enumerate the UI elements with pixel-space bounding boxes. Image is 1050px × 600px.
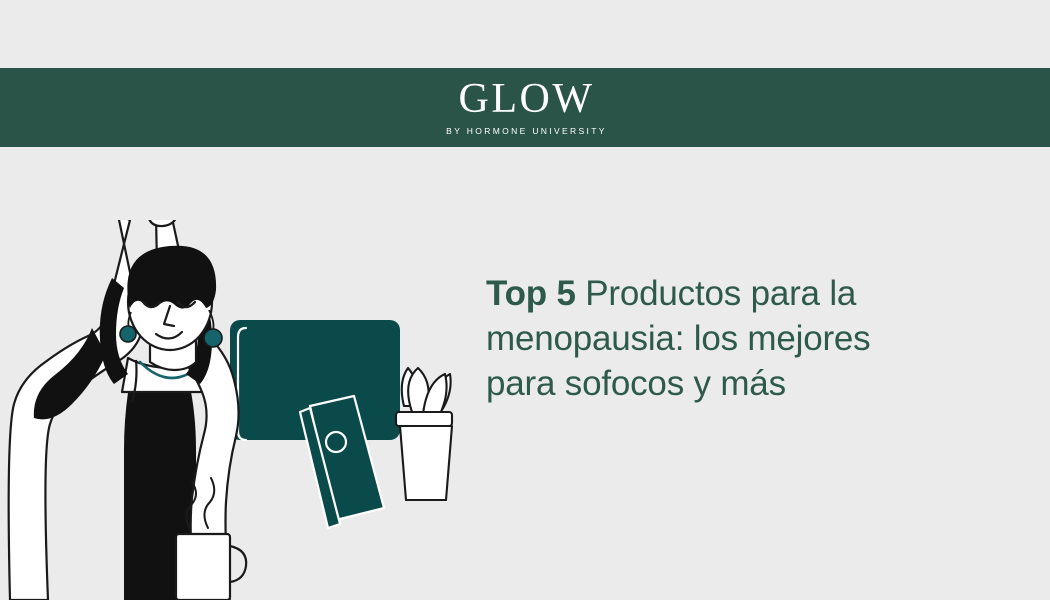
top-spacer-strip	[0, 0, 1050, 68]
page-title-emphasis: Top 5	[486, 274, 576, 313]
brand-tagline: BY HORMONE UNIVERSITY	[443, 126, 607, 137]
brand-wordmark-glow[interactable]: GLOW	[456, 78, 595, 120]
brand-header-band: GLOW BY HORMONE UNIVERSITY	[0, 68, 1050, 147]
potted-plant-illustration-part	[396, 368, 452, 500]
page-title: Top 5 Productos para la menopausia: los …	[486, 271, 906, 406]
hero-stage: Top 5 Productos para la menopausia: los …	[0, 147, 1050, 600]
hero-illustration	[0, 220, 460, 600]
